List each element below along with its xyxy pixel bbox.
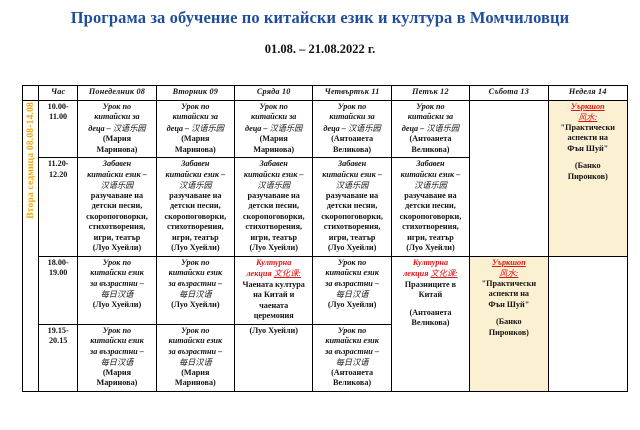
schedule-table: Час Понеделник 08 Вторник 09 Сряда 10 Че… — [22, 85, 628, 392]
week-label-header-spacer — [23, 86, 39, 101]
schedule-cell-thursday[interactable]: Урок по китайски език за възрастни – 每日汉… — [313, 256, 391, 324]
schedule-table-wrapper: Час Понеделник 08 Вторник 09 Сряда 10 Че… — [22, 85, 628, 392]
row-hour-cell: 11.20- 12.20 — [39, 158, 78, 257]
schedule-cell-monday[interactable]: Забавен китайски език – 汉语乐园 разучаване … — [78, 158, 156, 257]
schedule-cell-tuesday[interactable]: Урок по китайски за деца – 汉语乐园 (Мария М… — [156, 100, 234, 158]
schedule-cell-tuesday[interactable]: Забавен китайски език – 汉语乐园 разучаване … — [156, 158, 234, 257]
schedule-cell-monday[interactable]: Урок по китайски език за възрастни – 每日汉… — [78, 256, 156, 324]
schedule-cell-tuesday[interactable]: Урок по китайски език за възрастни – 每日汉… — [156, 324, 234, 391]
schedule-cell-saturday[interactable] — [470, 100, 548, 256]
schedule-cell-friday[interactable]: Забавен китайски език – 汉语乐园 разучаване … — [391, 158, 469, 257]
table-row: Втора седмица 08.08-14.08 10.00- 11.00 У… — [23, 100, 628, 158]
schedule-cell-wednesday[interactable]: Забавен китайски език – 汉语乐园 разучаване … — [235, 158, 313, 257]
date-range-subtitle: 01.08. – 21.08.2022 г. — [0, 42, 640, 57]
schedule-cell-wednesday[interactable]: Културна лекция 文化课: Чаената култура на … — [235, 256, 313, 324]
column-header-thursday: Четвъртък 11 — [313, 86, 391, 101]
column-header-sunday: Неделя 14 — [548, 86, 627, 101]
schedule-cell-wednesday[interactable]: Урок по китайски за деца – 汉语乐园 (Мария М… — [235, 100, 313, 158]
table-header-row: Час Понеделник 08 Вторник 09 Сряда 10 Че… — [23, 86, 628, 101]
document-page: Програма за обучение по китайски език и … — [0, 9, 640, 430]
column-header-saturday: Събота 13 — [470, 86, 548, 101]
schedule-cell-thursday[interactable]: Забавен китайски език – 汉语乐园 разучаване … — [313, 158, 391, 257]
schedule-cell-tuesday[interactable]: Урок по китайски език за възрастни – 每日汉… — [156, 256, 234, 324]
schedule-table-body: Втора седмица 08.08-14.08 10.00- 11.00 У… — [23, 100, 628, 391]
schedule-cell-saturday[interactable]: Уъркшоп 风水: "Практически аспекти на Фън … — [470, 256, 548, 391]
row-hour-cell: 10.00- 11.00 — [39, 100, 78, 158]
column-header-tuesday: Вторник 09 — [156, 86, 234, 101]
row-hour-cell: 19.15- 20.15 — [39, 324, 78, 391]
column-header-wednesday: Сряда 10 — [235, 86, 313, 101]
week-label-cell: Втора седмица 08.08-14.08 — [23, 100, 39, 391]
schedule-cell-thursday[interactable]: Урок по китайски език за възрастни – 每日汉… — [313, 324, 391, 391]
schedule-cell-friday[interactable]: Културна лекция 文化课: Празниците в Китай … — [391, 256, 469, 391]
schedule-cell-friday[interactable]: Урок по китайски за деца – 汉语乐园 (Антоане… — [391, 100, 469, 158]
schedule-cell-sunday[interactable]: Уъркшоп 风水: "Практически аспекти на Фън … — [548, 100, 627, 256]
column-header-hour: Час — [39, 86, 78, 101]
table-row: 18.00- 19.00 Урок по китайски език за въ… — [23, 256, 628, 324]
column-header-friday: Петък 12 — [391, 86, 469, 101]
schedule-cell-monday[interactable]: Урок по китайски за деца – 汉语乐园 (Мария М… — [78, 100, 156, 158]
page-title: Програма за обучение по китайски език и … — [0, 9, 640, 28]
row-hour-cell: 18.00- 19.00 — [39, 256, 78, 324]
week-label-text: Втора седмица 08.08-14.08 — [25, 102, 37, 219]
column-header-monday: Понеделник 08 — [78, 86, 156, 101]
schedule-cell-thursday[interactable]: Урок по китайски за деца – 汉语乐园 (Антоане… — [313, 100, 391, 158]
schedule-cell-wednesday[interactable]: (Луо Хуейли) — [235, 324, 313, 391]
schedule-cell-sunday[interactable] — [548, 256, 627, 391]
schedule-cell-monday[interactable]: Урок по китайски език за възрастни – 每日汉… — [78, 324, 156, 391]
